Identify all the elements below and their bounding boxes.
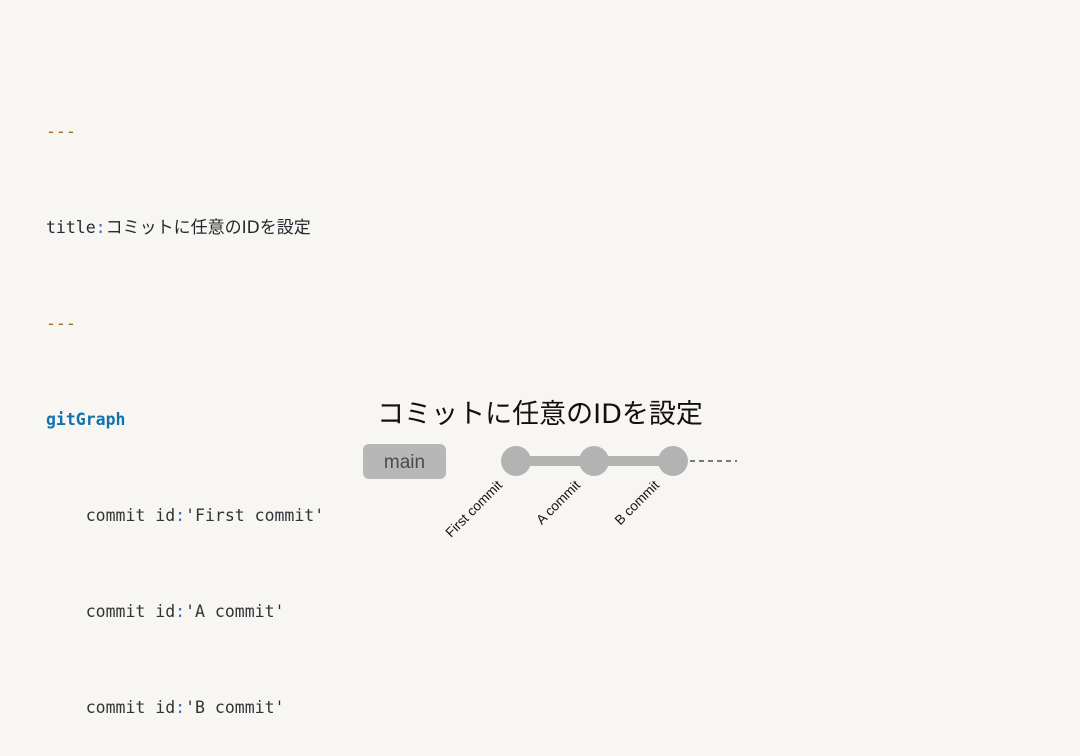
commit-label: B commit	[612, 477, 663, 528]
commit-id-value-3: 'B commit'	[185, 698, 284, 717]
commit-label: A commit	[533, 477, 583, 527]
gitgraph-svg: main First commit A commit B commit	[0, 382, 1080, 585]
code-line-commit-3: commit id:'B commit'	[46, 692, 324, 724]
gitgraph-diagram: コミットに任意のIDを設定 main First commit A commit…	[0, 382, 1080, 585]
commit-node[interactable]	[658, 446, 688, 476]
code-line-frontmatter-open: ---	[46, 116, 324, 148]
commit-indent-3	[46, 698, 86, 717]
commit-statement-2: commit id	[86, 602, 175, 621]
code-line-commit-2: commit id:'A commit'	[46, 596, 324, 628]
commit-node[interactable]	[579, 446, 609, 476]
branch-label-main: main	[363, 444, 446, 479]
code-line-title: title:コミットに任意のIDを設定	[46, 212, 324, 244]
commit-colon-2: :	[175, 602, 185, 621]
yaml-colon-title: :	[96, 218, 106, 237]
branch-label-text: main	[384, 452, 425, 473]
frontmatter-delimiter-close: ---	[46, 314, 76, 333]
commit-statement-3: commit id	[86, 698, 175, 717]
commit-node[interactable]	[501, 446, 531, 476]
yaml-key-title: title	[46, 218, 96, 237]
commit-id-value-2: 'A commit'	[185, 602, 284, 621]
commit-indent-2	[46, 602, 86, 621]
commit-colon-3: :	[175, 698, 185, 717]
commit-label: First commit	[443, 477, 506, 540]
code-line-frontmatter-close: ---	[46, 308, 324, 340]
frontmatter-delimiter-open: ---	[46, 122, 76, 141]
yaml-value-title: コミットに任意のIDを設定	[106, 218, 311, 238]
